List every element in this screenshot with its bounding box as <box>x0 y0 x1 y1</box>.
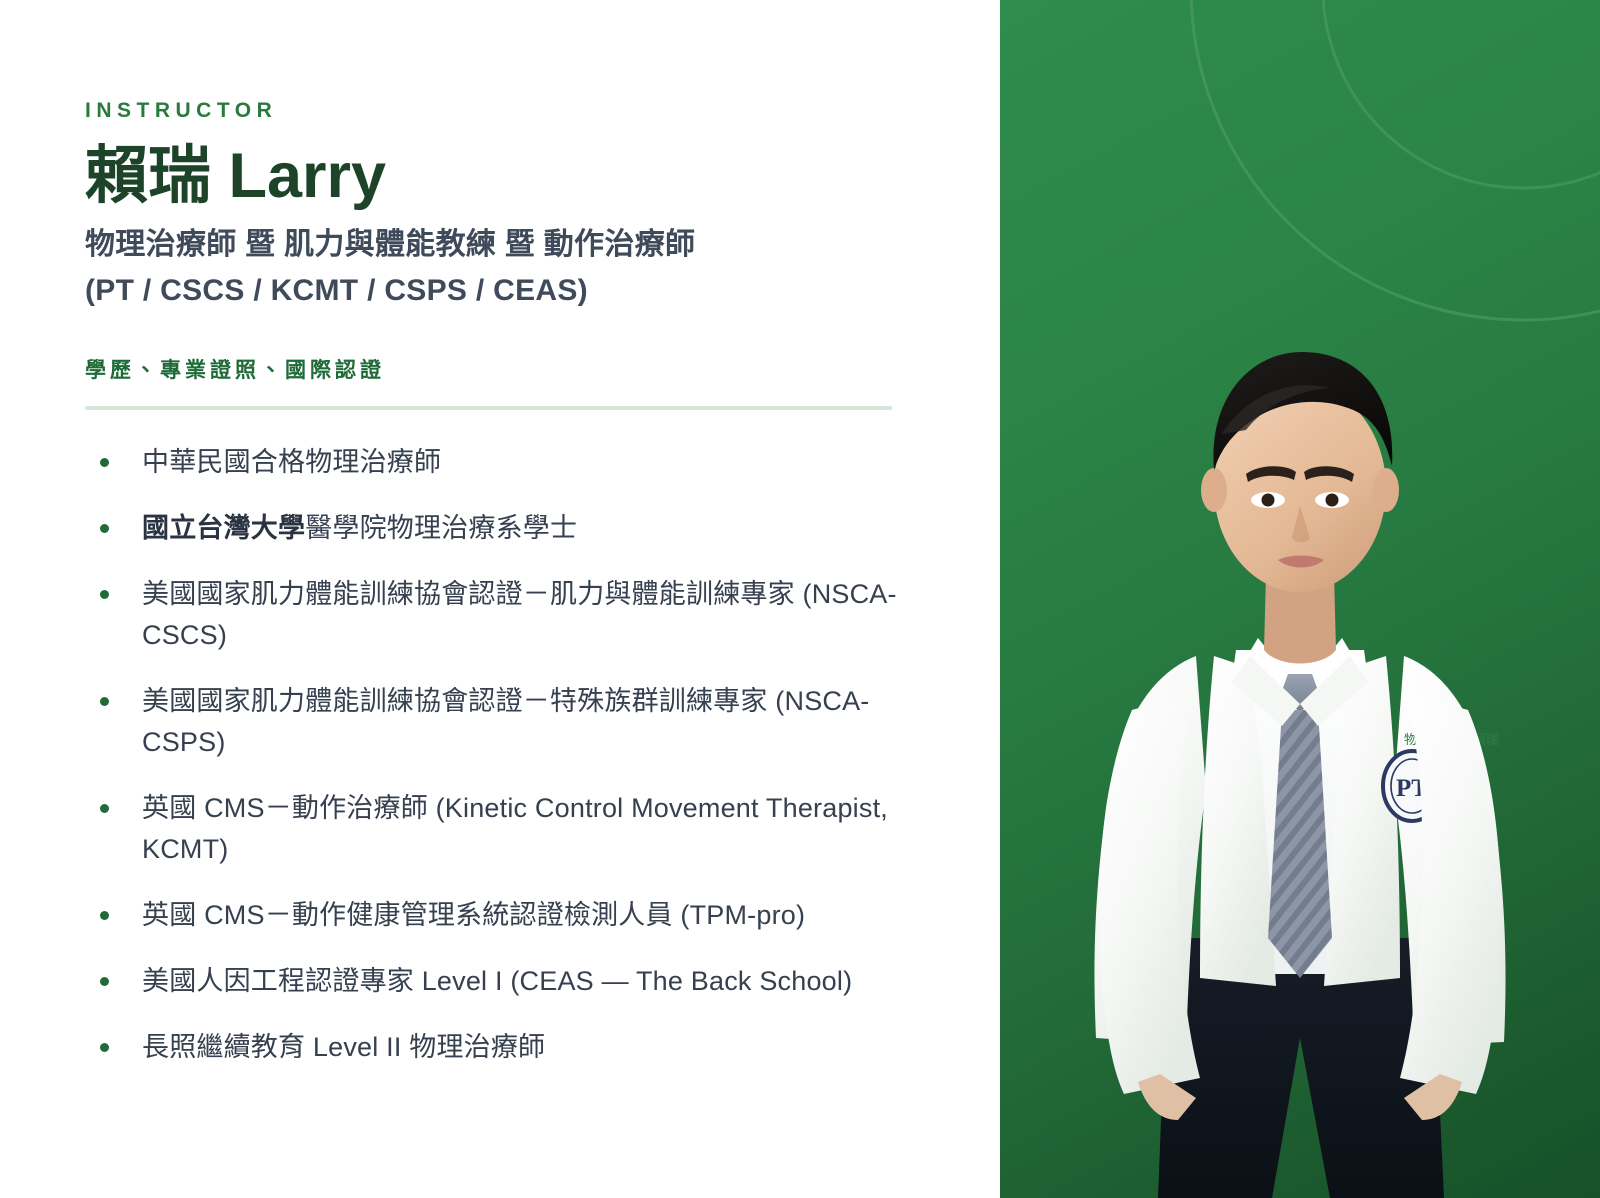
bullet-dot-icon <box>100 1043 109 1052</box>
bullet-dot-icon <box>100 804 109 813</box>
credential-item: 英國 CMS－動作治療師 (Kinetic Control Movement T… <box>85 788 900 870</box>
credential-text: 英國 CMS－動作治療師 (Kinetic Control Movement T… <box>142 793 888 864</box>
section-divider <box>85 406 892 410</box>
bullet-dot-icon <box>100 697 109 706</box>
credentials-list: 中華民國合格物理治療師國立台灣大學醫學院物理治療系學士美國國家肌力體能訓練協會認… <box>85 442 900 1068</box>
role-subtitle: 物理治療師 暨 肌力與體能教練 暨 動作治療師 (PT / CSCS / KCM… <box>85 222 1000 313</box>
credential-item: 英國 CMS－動作健康管理系統認證檢測人員 (TPM-pro) <box>85 895 900 936</box>
credential-item: 長照繼續教育 Level II 物理治療師 <box>85 1027 900 1068</box>
pupil-left <box>1262 494 1275 507</box>
content-column: INSTRUCTOR 賴瑞 Larry 物理治療師 暨 肌力與體能教練 暨 動作… <box>0 0 1000 1198</box>
credential-emphasis: 國立台灣大學 <box>142 513 305 543</box>
bullet-dot-icon <box>100 977 109 986</box>
ear-right <box>1373 468 1399 512</box>
credential-text: 美國國家肌力體能訓練協會認證－肌力與體能訓練專家 (NSCA-CSCS) <box>142 579 897 650</box>
credential-item: 中華民國合格物理治療師 <box>85 442 900 483</box>
instructor-profile-slide: INSTRUCTOR 賴瑞 Larry 物理治療師 暨 肌力與體能教練 暨 動作… <box>0 0 1600 1198</box>
credential-text: 中華民國合格物理治療師 <box>142 447 441 477</box>
role-line-1: 物理治療師 暨 肌力與體能教練 暨 動作治療師 <box>85 222 1000 268</box>
bullet-dot-icon <box>100 524 109 533</box>
credential-item: 美國國家肌力體能訓練協會認證－特殊族群訓練專家 (NSCA-CSPS) <box>85 681 900 763</box>
page-title: 賴瑞 Larry <box>85 142 1000 210</box>
bullet-dot-icon <box>100 590 109 599</box>
bullet-dot-icon <box>100 458 109 467</box>
portrait-panel: 物理治療師 賴瑞 PT <box>1000 0 1600 1198</box>
section-heading-credentials: 學歷、專業證照、國際認證 <box>85 357 1000 384</box>
credential-text: 醫學院物理治療系學士 <box>305 513 577 543</box>
credential-text: 美國國家肌力體能訓練協會認證－特殊族群訓練專家 (NSCA-CSPS) <box>142 686 870 757</box>
instructor-portrait: 物理治療師 賴瑞 PT <box>1000 338 1600 1198</box>
credential-item: 國立台灣大學醫學院物理治療系學士 <box>85 508 900 549</box>
credential-item: 美國國家肌力體能訓練協會認證－肌力與體能訓練專家 (NSCA-CSCS) <box>85 574 900 656</box>
credential-text: 美國人因工程認證專家 Level I (CEAS — The Back Scho… <box>142 966 852 996</box>
ear-left <box>1201 468 1227 512</box>
credential-text: 長照繼續教育 Level II 物理治療師 <box>142 1032 545 1062</box>
eyebrow-label: INSTRUCTOR <box>85 98 1000 123</box>
role-line-2: (PT / CSCS / KCMT / CSPS / CEAS) <box>85 268 1000 314</box>
portrait-figure: 物理治療師 賴瑞 PT <box>1000 338 1600 1198</box>
pupil-right <box>1326 494 1339 507</box>
credential-item: 美國人因工程認證專家 Level I (CEAS — The Back Scho… <box>85 961 900 1002</box>
bullet-dot-icon <box>100 911 109 920</box>
credential-text: 英國 CMS－動作健康管理系統認證檢測人員 (TPM-pro) <box>142 900 805 930</box>
